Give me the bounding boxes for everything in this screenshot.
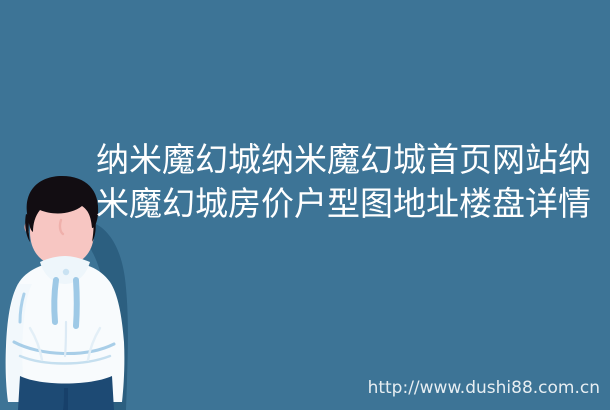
promo-banner: 纳米魔幻城纳米魔幻城首页网站纳 米魔幻城房价户型图地址楼盘详情 http://w… bbox=[0, 0, 610, 410]
banner-headline: 纳米魔幻城纳米魔幻城首页网站纳 米魔幻城房价户型图地址楼盘详情 bbox=[96, 138, 606, 226]
headline-line-2: 米魔幻城房价户型图地址楼盘详情 bbox=[96, 182, 606, 226]
watermark-url: http://www.dushi88.com.cn bbox=[368, 378, 600, 398]
headline-line-1: 纳米魔幻城纳米魔幻城首页网站纳 bbox=[96, 138, 606, 182]
